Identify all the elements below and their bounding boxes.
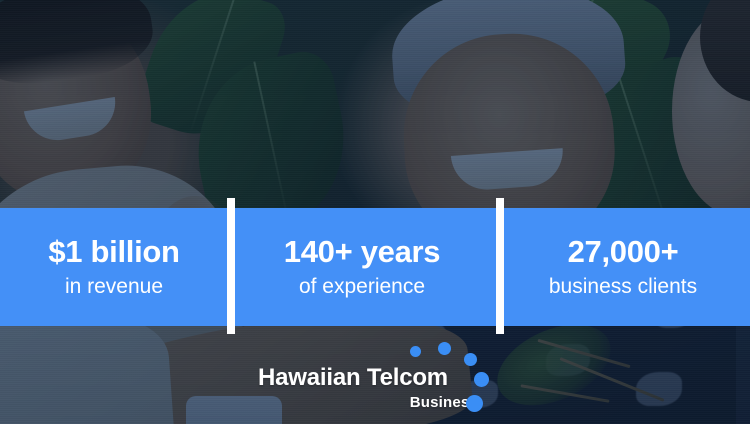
- promo-banner: $1 billion in revenue 140+ years of expe…: [0, 0, 750, 424]
- logo-dot-icon: [438, 342, 451, 355]
- stat-clients: 27,000+ business clients: [496, 236, 750, 298]
- stat-clients-value: 27,000+: [502, 236, 744, 269]
- stat-revenue-value: $1 billion: [6, 236, 222, 269]
- stat-experience: 140+ years of experience: [228, 236, 496, 298]
- stat-revenue: $1 billion in revenue: [0, 236, 228, 298]
- stats-band: $1 billion in revenue 140+ years of expe…: [0, 208, 750, 326]
- logo-dot-icon: [466, 395, 483, 412]
- stat-clients-label: business clients: [502, 276, 744, 298]
- logo-dot-icon: [474, 372, 489, 387]
- logo-dot-icon: [410, 346, 421, 357]
- logo-wordmark: Hawaiian Telcom: [258, 364, 448, 392]
- logo-dot-icon: [464, 353, 477, 366]
- hawaiian-telcom-logo: Hawaiian Telcom Business: [258, 360, 488, 418]
- stat-divider-right: [496, 198, 504, 334]
- logo-subbrand: Business: [258, 394, 478, 411]
- stat-revenue-label: in revenue: [6, 276, 222, 298]
- stat-experience-value: 140+ years: [234, 236, 490, 269]
- stat-experience-label: of experience: [234, 276, 490, 298]
- stat-divider-left: [227, 198, 235, 334]
